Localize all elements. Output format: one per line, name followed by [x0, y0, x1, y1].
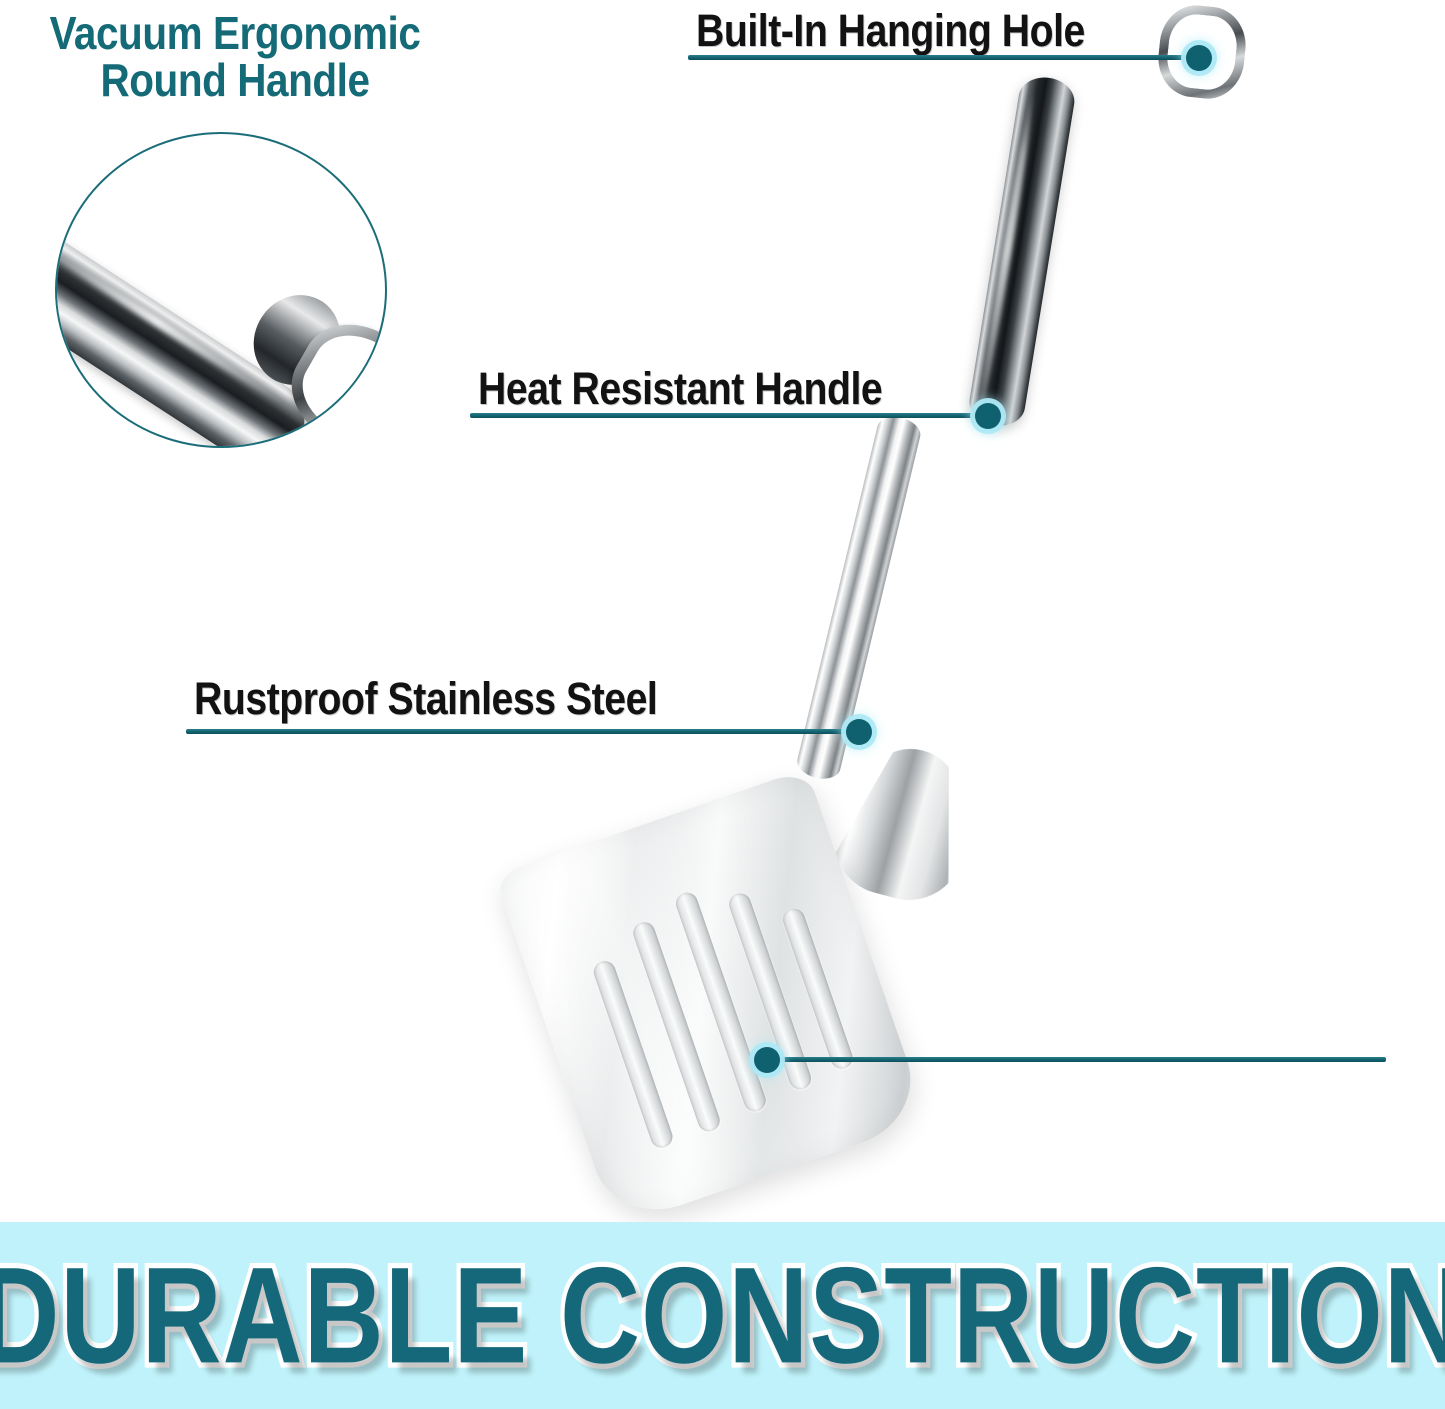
- callout-label-rustproof-stainless-steel: Rustproof Stainless Steel: [194, 676, 657, 721]
- callout-label-heat-resistant-handle: Heat Resistant Handle: [478, 366, 882, 411]
- callout-rule-heat-resistant-handle: [470, 413, 986, 418]
- head-slot: [780, 906, 855, 1072]
- callout-dot-hanging-hole: [1186, 45, 1212, 71]
- head-slot: [673, 890, 769, 1115]
- callout-rule-hanging-hole: [688, 55, 1200, 60]
- callout-rule-rustproof-stainless-steel: [186, 729, 858, 734]
- head-slot: [591, 958, 676, 1150]
- callout-label-hanging-hole: Built-In Hanging Hole: [696, 8, 1085, 53]
- callout-dot-stain-odor-resistant: [754, 1047, 780, 1073]
- bottom-banner: DURABLE CONSTRUCTION: [0, 1222, 1445, 1409]
- banner-headline: DURABLE CONSTRUCTION: [0, 1237, 1445, 1395]
- slotted-head-part: [494, 768, 927, 1227]
- callout-dot-heat-resistant-handle: [975, 403, 1001, 429]
- callout-rule-stain-odor-resistant: [766, 1057, 1386, 1062]
- inset-title: Vacuum Ergonomic Round Handle: [28, 10, 442, 104]
- handle-closeup-inset: [55, 132, 387, 448]
- shaft-flare-part: [821, 733, 987, 912]
- callout-dot-rustproof-stainless-steel: [846, 719, 872, 745]
- handle-part: [966, 74, 1078, 430]
- inset-image: [57, 134, 385, 446]
- head-slot: [630, 919, 722, 1134]
- infographic-canvas: Vacuum Ergonomic Round Handle Built-In H…: [0, 0, 1445, 1409]
